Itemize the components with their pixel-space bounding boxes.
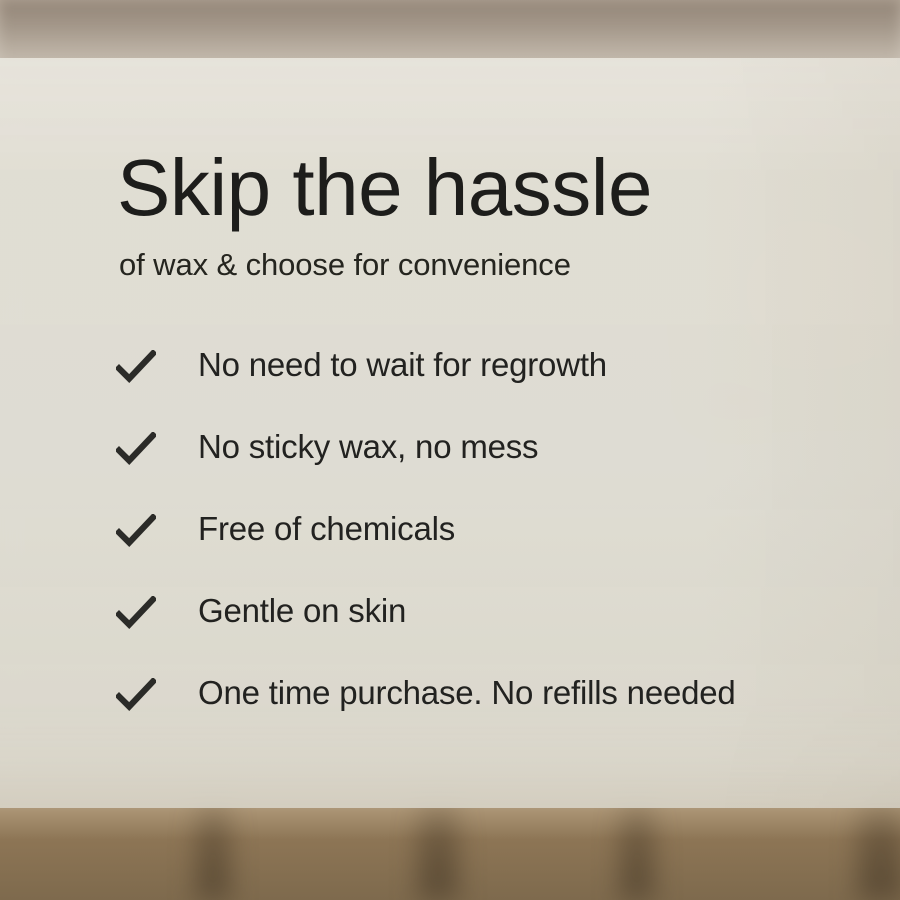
page-title: Skip the hassle [117,148,652,228]
content-area: Skip the hassle of wax & choose for conv… [0,0,900,900]
list-item: One time purchase. No refills needed [0,675,900,757]
check-icon [116,514,156,548]
list-item-label: Free of chemicals [198,511,455,548]
page-subtitle: of wax & choose for convenience [119,248,571,282]
list-item-label: No need to wait for regrowth [198,347,607,384]
list-item: No sticky wax, no mess [0,429,900,511]
check-icon [116,432,156,466]
list-item: Gentle on skin [0,593,900,675]
list-item-label: One time purchase. No refills needed [198,675,736,712]
list-item: Free of chemicals [0,511,900,593]
check-icon [116,678,156,712]
list-item-label: No sticky wax, no mess [198,429,538,466]
promo-graphic: Skip the hassle of wax & choose for conv… [0,0,900,900]
benefits-list: No need to wait for regrowth No sticky w… [0,347,900,757]
list-item-label: Gentle on skin [198,593,406,630]
list-item: No need to wait for regrowth [0,347,900,429]
check-icon [116,596,156,630]
check-icon [116,350,156,384]
